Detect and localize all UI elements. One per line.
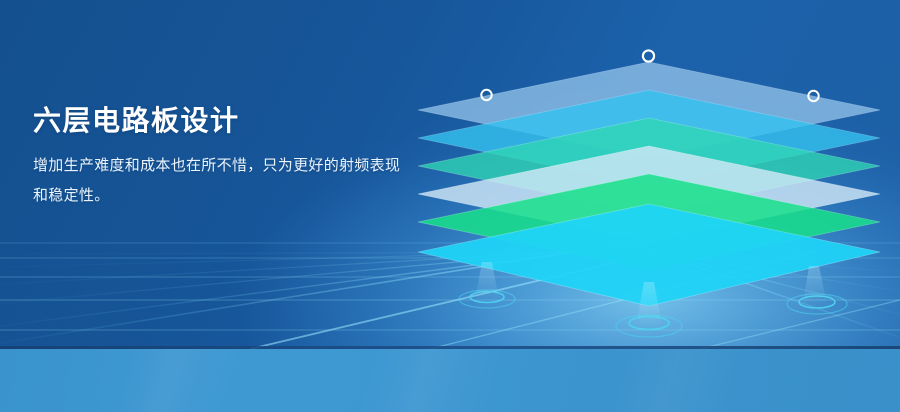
pin-center-head: [643, 50, 654, 61]
page-title: 六层电路板设计: [33, 104, 413, 138]
page-subtitle: 增加生产难度和成本也在所不惜，只为更好的射频表现和稳定性。: [33, 150, 413, 210]
bottom-band: [0, 349, 900, 412]
banner-hero: 六层电路板设计 增加生产难度和成本也在所不惜，只为更好的射频表现和稳定性。: [0, 0, 900, 412]
text-block: 六层电路板设计 增加生产难度和成本也在所不惜，只为更好的射频表现和稳定性。: [33, 104, 413, 210]
